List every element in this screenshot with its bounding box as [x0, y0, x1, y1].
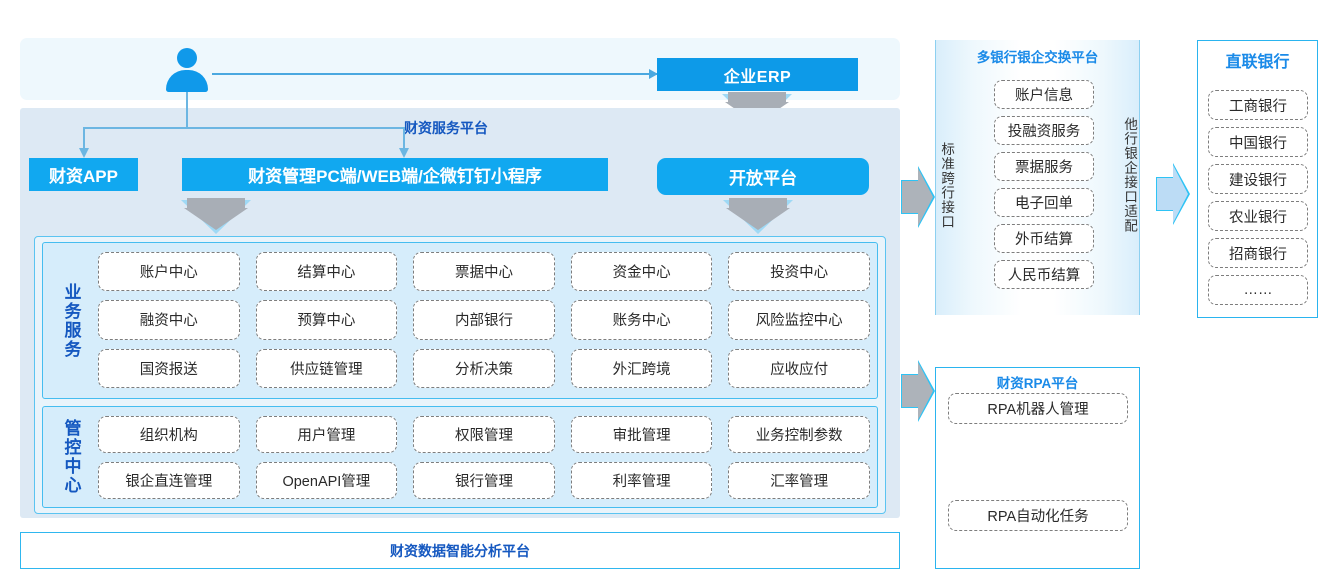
control-module-chip[interactable]: 用户管理: [256, 416, 398, 453]
user-to-erp-connector: [212, 73, 657, 75]
connector-horizontal: [83, 127, 405, 129]
exchange-service-chip[interactable]: 外币结算: [994, 224, 1094, 253]
business-module-chip[interactable]: 应收应付: [728, 349, 870, 388]
control-module-chip[interactable]: 汇率管理: [728, 462, 870, 499]
direct-banks-list: 工商银行中国银行建设银行农业银行招商银行……: [1208, 90, 1308, 305]
platform-title: 财资服务平台: [404, 118, 488, 138]
business-module-chip[interactable]: 结算中心: [256, 252, 398, 291]
rpa-title: 财资RPA平台: [935, 372, 1140, 392]
exchange-service-chip[interactable]: 票据服务: [994, 152, 1094, 181]
business-module-chip[interactable]: 外汇跨境: [571, 349, 713, 388]
business-module-chip[interactable]: 账务中心: [571, 300, 713, 339]
architecture-diagram: 企业ERP 财资服务平台 财资APP 财资管理PC端/WEB端/企微钉钉小程序 …: [0, 0, 1329, 580]
control-module-chip[interactable]: 银行管理: [413, 462, 555, 499]
business-module-chip[interactable]: 预算中心: [256, 300, 398, 339]
exchange-service-chip[interactable]: 电子回单: [994, 188, 1094, 217]
direct-bank-chip[interactable]: 建设银行: [1208, 164, 1308, 194]
business-module-chip[interactable]: 融资中心: [98, 300, 240, 339]
button-caizi-pc-web[interactable]: 财资管理PC端/WEB端/企微钉钉小程序: [182, 158, 608, 191]
business-module-chip[interactable]: 国资报送: [98, 349, 240, 388]
control-module-chip[interactable]: 审批管理: [571, 416, 713, 453]
arrow-down-app-to-modules: [181, 198, 251, 234]
connector-vertical: [186, 92, 188, 128]
other-bank-adapter-label: 他行银企接口适配: [1118, 80, 1140, 270]
control-module-grid: 组织机构用户管理权限管理审批管理业务控制参数银企直连管理OpenAPI管理银行管…: [98, 416, 870, 499]
data-analysis-platform-bar: 财资数据智能分析平台: [20, 532, 900, 569]
control-center-label: 管控中心: [58, 412, 84, 502]
button-open-platform[interactable]: 开放平台: [657, 158, 869, 195]
exchange-service-chip[interactable]: 账户信息: [994, 80, 1094, 109]
connector-branch-left: [83, 127, 85, 149]
control-module-chip[interactable]: 权限管理: [413, 416, 555, 453]
direct-bank-chip[interactable]: 工商银行: [1208, 90, 1308, 120]
exchange-service-chip[interactable]: 人民币结算: [994, 260, 1094, 289]
control-module-chip[interactable]: 银企直连管理: [98, 462, 240, 499]
rpa-item[interactable]: RPA自动化任务: [948, 500, 1128, 531]
business-module-grid: 账户中心结算中心票据中心资金中心投资中心融资中心预算中心内部银行账务中心风险监控…: [98, 252, 870, 388]
arrow-right-to-direct-banks: [1156, 163, 1190, 225]
business-service-label: 业务服务: [58, 248, 84, 393]
direct-banks-title: 直联银行: [1197, 48, 1318, 72]
business-module-chip[interactable]: 风险监控中心: [728, 300, 870, 339]
person-icon: [166, 48, 208, 94]
connector-branch-right: [403, 127, 405, 149]
arrow-right-to-exchange: [901, 166, 935, 228]
rpa-item[interactable]: RPA机器人管理: [948, 393, 1128, 424]
direct-bank-chip[interactable]: 招商银行: [1208, 238, 1308, 268]
control-module-chip[interactable]: 业务控制参数: [728, 416, 870, 453]
exchange-service-list: 账户信息投融资服务票据服务电子回单外币结算人民币结算: [994, 80, 1094, 289]
button-caizi-app[interactable]: 财资APP: [29, 158, 138, 191]
direct-bank-chip[interactable]: 农业银行: [1208, 201, 1308, 231]
business-module-chip[interactable]: 分析决策: [413, 349, 555, 388]
business-module-chip[interactable]: 供应链管理: [256, 349, 398, 388]
arrow-right-to-rpa: [901, 360, 935, 422]
control-module-chip[interactable]: OpenAPI管理: [256, 462, 398, 499]
enterprise-erp-box[interactable]: 企业ERP: [657, 58, 858, 91]
direct-bank-chip[interactable]: ……: [1208, 275, 1308, 305]
standard-interface-label: 标准跨行接口: [935, 100, 957, 270]
control-module-chip[interactable]: 利率管理: [571, 462, 713, 499]
business-module-chip[interactable]: 账户中心: [98, 252, 240, 291]
control-module-chip[interactable]: 组织机构: [98, 416, 240, 453]
direct-bank-chip[interactable]: 中国银行: [1208, 127, 1308, 157]
arrow-down-open-to-modules: [723, 198, 793, 234]
bank-exchange-title: 多银行银企交换平台: [935, 46, 1140, 66]
business-module-chip[interactable]: 资金中心: [571, 252, 713, 291]
business-module-chip[interactable]: 内部银行: [413, 300, 555, 339]
business-module-chip[interactable]: 票据中心: [413, 252, 555, 291]
business-module-chip[interactable]: 投资中心: [728, 252, 870, 291]
exchange-service-chip[interactable]: 投融资服务: [994, 116, 1094, 145]
